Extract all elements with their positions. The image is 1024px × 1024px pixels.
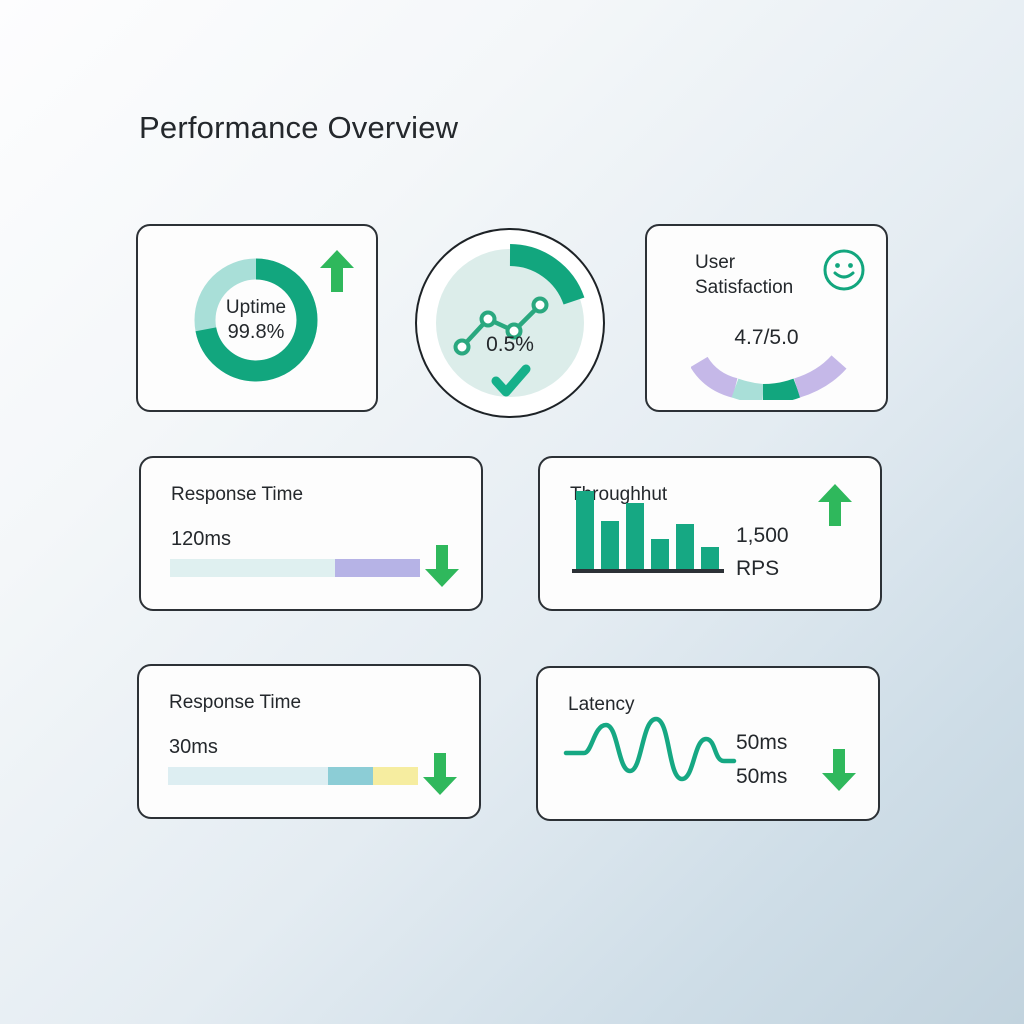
arc-segment — [510, 255, 574, 301]
arrow-up-icon — [320, 250, 354, 292]
page-title: Performance Overview — [139, 110, 458, 146]
response-time-card-1[interactable]: Response Time 120ms — [139, 456, 483, 611]
gauge-segment-3 — [763, 388, 797, 394]
sparkline-point — [482, 313, 495, 326]
throughput-bar — [701, 547, 719, 569]
throughput-unit: RPS — [736, 553, 789, 586]
progress-segment-base — [168, 767, 328, 785]
arrow-down-icon — [822, 749, 856, 791]
arrow-down-icon — [425, 545, 459, 587]
throughput-value-group: 1,500 RPS — [736, 520, 789, 585]
response-time-label: Response Time — [169, 692, 301, 714]
progress-segment-remainder — [335, 559, 420, 577]
throughput-bar — [626, 503, 644, 569]
progress-segment-mid — [328, 767, 373, 785]
gauge-segment-4 — [797, 362, 839, 388]
response-time-card-2[interactable]: Response Time 30ms — [137, 664, 481, 819]
latency-value-primary: 50ms — [736, 726, 787, 760]
response-time-value: 120ms — [171, 528, 231, 551]
user-satisfaction-card[interactable]: User Satisfaction 4.7/5.0 — [645, 224, 888, 412]
error-rate-inner-disc: 0.5% — [436, 249, 584, 397]
latency-value-group: 50ms 50ms — [736, 726, 787, 793]
throughput-bar — [676, 524, 694, 569]
throughput-baseline — [572, 569, 724, 573]
satisfaction-gauge-chart — [691, 354, 847, 405]
sparkline-point — [534, 299, 547, 312]
throughput-bar — [601, 521, 619, 569]
check-icon — [496, 369, 526, 392]
throughput-bar-chart — [572, 491, 732, 573]
latency-card[interactable]: Latency 50ms 50ms — [536, 666, 880, 821]
response-time-progress-bar[interactable] — [168, 767, 418, 785]
satisfaction-title: User Satisfaction — [695, 250, 815, 301]
latency-wave-svg — [562, 709, 737, 789]
arrow-up-icon — [818, 484, 852, 526]
progress-segment-high — [373, 767, 418, 785]
arrow-down-icon — [423, 753, 457, 795]
gauge-segment-2 — [735, 388, 763, 394]
response-time-progress-bar[interactable] — [170, 559, 420, 577]
uptime-donut-chart: Uptime 99.8% — [190, 254, 322, 386]
error-rate-card[interactable]: 0.5% — [415, 228, 605, 418]
latency-wave-chart — [562, 709, 737, 789]
throughput-bars-row — [576, 491, 724, 569]
progress-segment-filled — [170, 559, 335, 577]
satisfaction-value: 4.7/5.0 — [647, 326, 886, 350]
donut-svg — [190, 254, 322, 386]
error-rate-graphics — [436, 249, 584, 397]
latency-wave-path — [566, 719, 734, 779]
response-time-label: Response Time — [171, 484, 303, 506]
throughput-card[interactable]: Throughhut 1,500 RPS — [538, 456, 882, 611]
response-time-value: 30ms — [169, 736, 218, 759]
latency-value-secondary: 50ms — [736, 760, 787, 794]
throughput-value: 1,500 — [736, 520, 789, 553]
throughput-bar — [576, 491, 594, 569]
error-rate-value: 0.5% — [436, 333, 584, 357]
smiley-icon — [822, 248, 866, 297]
throughput-bar — [651, 539, 669, 569]
gauge-segment-1 — [699, 362, 735, 388]
uptime-card[interactable]: Uptime 99.8% — [136, 224, 378, 412]
